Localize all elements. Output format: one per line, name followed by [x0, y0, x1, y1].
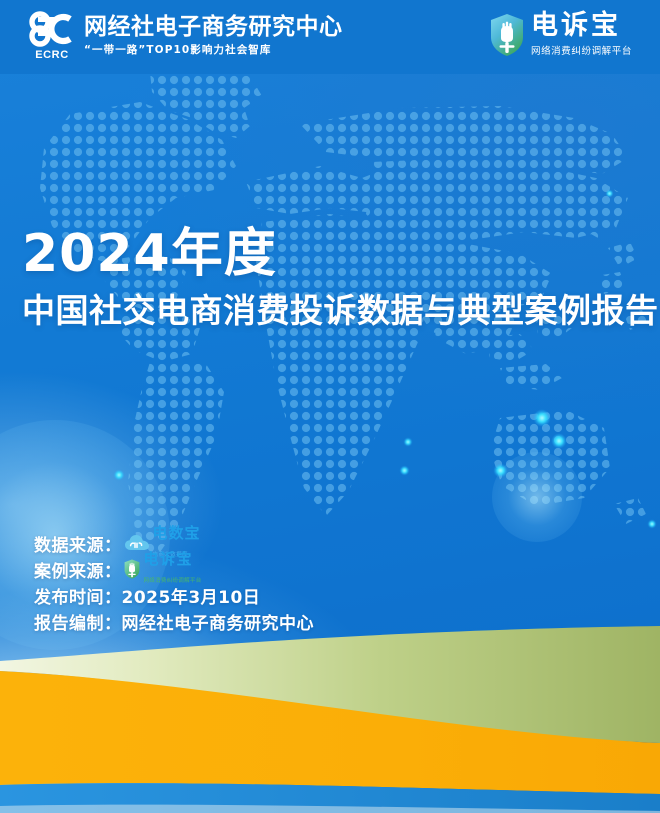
- ecrc-tagline: “一带一路”TOP10影响力社会智库: [84, 42, 343, 57]
- publish-date-value: 2025年3月10日: [122, 583, 261, 608]
- sparkle-dot-2: [552, 434, 566, 448]
- sparkle-dot-9: [648, 520, 656, 528]
- report-title: 中国社交电商消费投诉数据与典型案例报告: [22, 292, 659, 331]
- meta-row-publish-date: 发布时间： 2025年3月10日: [34, 582, 314, 608]
- diansubao-tagline: 网络消费纠纷调解平台: [531, 43, 632, 57]
- sparkle-dot-1: [534, 410, 550, 426]
- diansubao-name: 电诉宝: [144, 550, 194, 568]
- ec-monogram-icon: [24, 11, 76, 47]
- publisher-value: 网经社电子商务研究中心: [122, 609, 315, 634]
- meta-label: 案例来源：: [34, 557, 122, 582]
- meta-row-publisher: 报告编制： 网经社电子商务研究中心: [34, 608, 314, 634]
- sparkle-dot-4: [400, 466, 409, 475]
- ecrc-title: 网经社电子商务研究中心: [84, 15, 343, 39]
- ecrc-mark: ECRC: [22, 11, 78, 61]
- meta-label: 发布时间：: [34, 583, 122, 608]
- meta-label: 报告编制：: [34, 609, 122, 634]
- shield-fist-icon: [124, 559, 140, 579]
- report-year: 2024年度: [22, 228, 659, 280]
- shield-fist-icon: [490, 13, 524, 57]
- sparkle-dot-6: [114, 470, 124, 480]
- sparkle-dot-3: [494, 464, 507, 477]
- ecrc-logo[interactable]: ECRC 网经社电子商务研究中心 “一带一路”TOP10影响力社会智库: [22, 11, 343, 61]
- meta-label: 数据来源：: [34, 531, 122, 556]
- diansubao-title: 电诉宝: [531, 12, 632, 39]
- diansubao-logo[interactable]: 电诉宝 网络消费纠纷调解平台: [490, 12, 632, 57]
- cover-title-block: 2024年度 中国社交电商消费投诉数据与典型案例报告: [22, 228, 659, 331]
- report-cover-page: ECRC 网经社电子商务研究中心 “一带一路”TOP10影响力社会智库: [0, 0, 660, 813]
- ecrc-wordmark: ECRC: [26, 49, 78, 61]
- cover-meta-block: 数据来源： 电数宝 电商大数据库 案例来源：: [34, 530, 314, 634]
- sparkle-dot-10: [606, 190, 613, 197]
- sparkle-dot-5: [404, 438, 412, 446]
- meta-row-case-source: 案例来源：: [34, 556, 314, 582]
- page-header: ECRC 网经社电子商务研究中心 “一带一路”TOP10影响力社会智库: [0, 0, 660, 74]
- bottom-ribbon-decoration: [0, 613, 660, 813]
- dianshubao-name: 电数宝: [153, 524, 201, 542]
